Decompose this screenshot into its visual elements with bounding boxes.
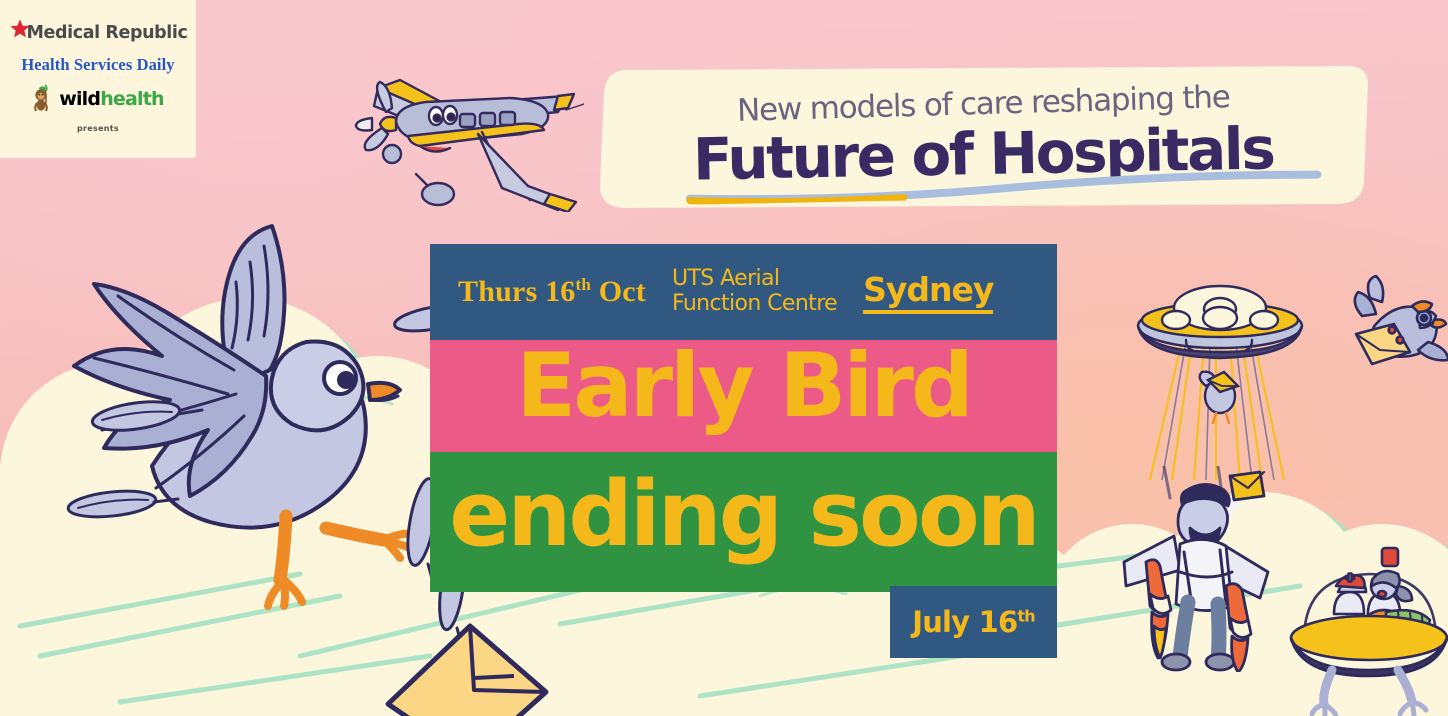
deadline-ordinal: th xyxy=(1017,606,1034,625)
event-date-day: Thurs 16 xyxy=(458,275,575,308)
deadline-date: July 16 xyxy=(912,605,1017,639)
promo-banner: Medical Republic Health Services Daily w… xyxy=(0,0,1448,716)
wild-health-logo: wildhealth xyxy=(32,84,164,114)
medical-republic-text: Medical Republic xyxy=(27,23,188,43)
sponsor-logo-card: Medical Republic Health Services Daily w… xyxy=(0,0,196,158)
medical-republic-logo: Medical Republic xyxy=(9,22,188,44)
headline-card: New models of care reshaping the Future … xyxy=(594,58,1372,216)
carrier-pigeon-icon xyxy=(1336,268,1448,382)
cartoon-airplane-icon xyxy=(352,66,584,212)
headline-title: Future of Hospitals xyxy=(692,118,1273,190)
ufo-beam-icon xyxy=(1120,268,1324,480)
flying-saucer-ambulance-icon xyxy=(1288,528,1448,716)
deadline-text: July 16th xyxy=(912,605,1035,639)
wild-text: wild xyxy=(59,88,100,110)
event-date-month: Oct xyxy=(591,275,646,308)
presents-text: presents xyxy=(77,124,119,133)
event-band-stack: Thurs 16th Oct UTS Aerial Function Centr… xyxy=(430,244,1057,592)
health-text: health xyxy=(100,88,164,110)
early-bird-band: Early Bird xyxy=(430,340,1057,452)
event-details-band: Thurs 16th Oct UTS Aerial Function Centr… xyxy=(430,244,1057,340)
early-bird-text: Early Bird xyxy=(430,334,1057,437)
event-venue-line1: UTS Aerial xyxy=(672,267,837,292)
envelope-icon xyxy=(378,618,564,716)
ending-soon-band: ending soon xyxy=(430,452,1057,592)
event-date: Thurs 16th Oct xyxy=(458,275,646,309)
event-city: Sydney xyxy=(863,270,993,314)
ending-soon-text: ending soon xyxy=(430,462,1057,567)
feather-icon xyxy=(86,390,206,440)
monkey-icon xyxy=(32,84,58,114)
jetpack-man-icon xyxy=(1118,466,1304,672)
feather-icon xyxy=(60,478,180,528)
health-services-daily-text: Health Services Daily xyxy=(21,55,174,75)
deadline-badge: July 16th xyxy=(890,586,1057,658)
event-venue-line2: Function Centre xyxy=(672,292,837,317)
event-venue: UTS Aerial Function Centre xyxy=(672,267,837,316)
star-icon xyxy=(9,18,31,40)
event-date-ordinal: th xyxy=(575,275,591,294)
